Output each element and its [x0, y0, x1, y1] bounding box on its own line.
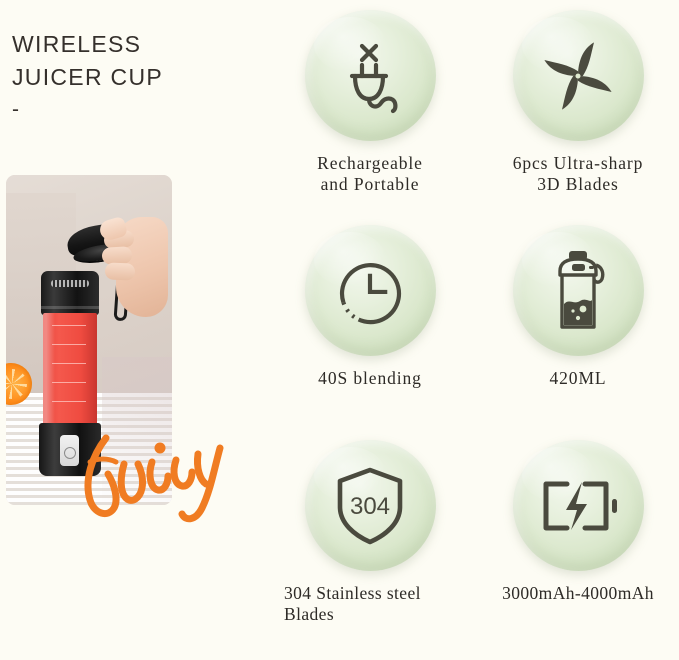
clock-icon	[332, 253, 408, 329]
blades-icon	[538, 36, 618, 116]
bottle-body	[43, 313, 97, 425]
feature-stainless-steel: 304 304 Stainless steel Blades	[270, 440, 470, 625]
shield-label: 304	[350, 493, 390, 520]
left-column: WIRELESS JUICER CUP -	[0, 0, 250, 660]
juicer-bottle	[39, 271, 101, 476]
title-line-1: WIRELESS	[12, 28, 242, 61]
product-photo	[6, 175, 172, 505]
feature-rechargeable-portable: Rechargeable and Portable	[270, 10, 470, 195]
bottle-icon	[540, 249, 616, 333]
feature-badge	[513, 10, 644, 141]
page-title: WIRELESS JUICER CUP -	[12, 28, 242, 123]
title-line-2: JUICER CUP	[12, 61, 242, 94]
feature-blending-time: 40S blending	[270, 225, 470, 389]
feature-battery-capacity: 3000mAh-4000mAh	[478, 440, 678, 604]
battery-charge-icon	[536, 474, 620, 538]
photo-shadow	[102, 357, 172, 506]
feature-badge	[305, 10, 436, 141]
feature-caption: 304 Stainless steel Blades	[270, 583, 470, 625]
feature-caption: 6pcs Ultra-sharp 3D Blades	[478, 153, 678, 195]
power-button	[60, 435, 79, 466]
feature-badge	[513, 225, 644, 356]
feature-badge: 304	[305, 440, 436, 571]
feature-caption: Rechargeable and Portable	[270, 153, 470, 195]
bottle-base	[39, 423, 101, 476]
hand-finger	[105, 262, 136, 280]
feature-badge	[305, 225, 436, 356]
feature-grid: Rechargeable and Portable 6	[250, 0, 679, 660]
feature-caption: 40S blending	[270, 368, 470, 389]
title-dash: -	[12, 97, 242, 123]
feature-caption: 420ML	[478, 368, 678, 389]
hand	[102, 207, 168, 327]
feature-capacity: 420ML	[478, 225, 678, 389]
feature-caption: 3000mAh-4000mAh	[478, 583, 678, 604]
shield-304-icon: 304	[332, 465, 408, 547]
bottle-measure-marks	[52, 325, 86, 413]
product-infographic: WIRELESS JUICER CUP -	[0, 0, 679, 660]
feature-blades: 6pcs Ultra-sharp 3D Blades	[478, 10, 678, 195]
no-plug-icon	[331, 37, 409, 115]
feature-badge	[513, 440, 644, 571]
bottle-neck	[41, 271, 99, 315]
